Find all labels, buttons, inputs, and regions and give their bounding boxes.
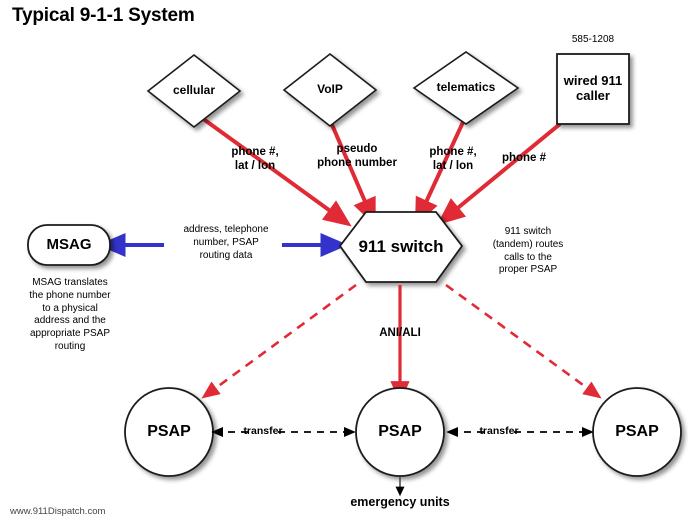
edge-label-msag-exchange: address, telephone number, PSAP routing … [168,224,284,262]
switch-note: 911 switch (tandem) routes calls to the … [470,226,586,277]
edge-label-emergency-units: emergency units [330,495,470,509]
edge-label-wired: phone # [484,152,564,166]
edge-label-transfer-left: transfer [228,425,298,437]
node-psap-left[interactable] [125,388,213,476]
edge-label-transfer-right: transfer [464,425,534,437]
node-cellular[interactable] [148,55,240,127]
node-psap-center[interactable] [356,388,444,476]
node-wired-911-caller[interactable] [557,54,629,124]
node-911-switch[interactable] [340,212,462,282]
node-msag[interactable] [28,225,110,265]
diagram-canvas: Typical 9-1-1 System [0,0,688,527]
connector-switch-to-psap-left [209,285,356,393]
node-voip[interactable] [284,54,376,126]
msag-note: MSAG translates the phone number to a ph… [12,277,128,354]
watermark: www.911Dispatch.com [10,506,105,517]
edge-label-voip: pseudo phone number [302,143,412,171]
node-telematics[interactable] [414,52,518,124]
edge-label-ani-ali: ANI/ALI [360,327,440,341]
edge-label-cellular: phone #, lat / lon [212,146,298,174]
connector-switch-to-psap-right [446,285,594,393]
caller-phone-number: 585-1208 [557,34,629,45]
node-psap-right[interactable] [593,388,681,476]
